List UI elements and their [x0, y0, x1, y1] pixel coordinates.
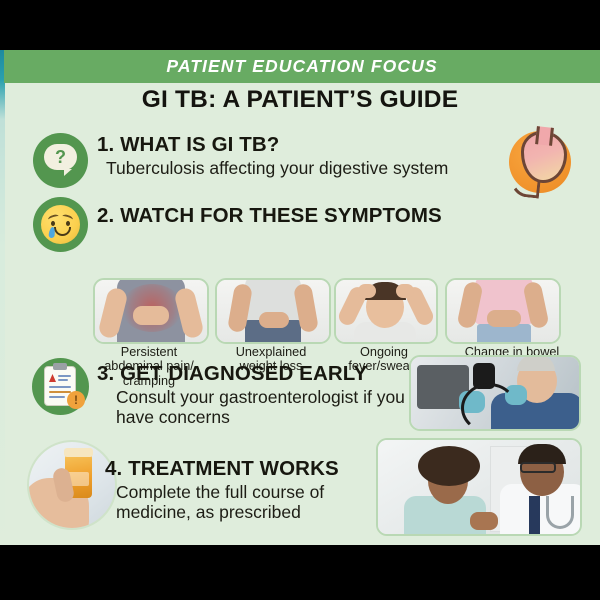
stomach-illustration — [503, 125, 575, 197]
text-line — [49, 386, 71, 388]
red-marker — [49, 374, 56, 382]
patient-hair — [418, 446, 480, 486]
alert-badge-icon: ! — [67, 391, 85, 409]
speech-bubble-shape: ? — [44, 144, 77, 170]
weight-loss-photo — [215, 278, 331, 344]
bowel-habits-photo-inner — [447, 280, 559, 342]
section-what-is-gi-tb: ? 1. WHAT IS GI TB? Tuberculosis affecti… — [0, 128, 600, 190]
jeans-shape — [477, 324, 531, 344]
section-get-diagnosed-early: ! 3. GET DIAGNOSED EARLY Consult your ga… — [0, 353, 600, 437]
fever-sweats-photo — [334, 278, 438, 344]
page-title: GI TB: A PATIENT’S GUIDE — [0, 86, 600, 114]
pill-bottle-photo — [27, 440, 117, 530]
letterbox-bottom — [0, 545, 600, 600]
esophagus-shape — [535, 126, 554, 146]
hands-on-abdomen — [487, 310, 521, 327]
section-1-heading: 1. WHAT IS GI TB? — [97, 133, 279, 157]
eye-right — [66, 221, 70, 226]
text-line — [49, 396, 65, 398]
question-speech-bubble-icon: ? — [33, 133, 88, 188]
endoscopy-photo-inner — [411, 357, 579, 429]
patient-hand — [470, 512, 498, 530]
clipboard-alert-icon: ! — [32, 358, 89, 415]
doctor-patient-consultation-photo — [376, 438, 582, 536]
hands-on-abdomen — [133, 306, 169, 325]
section-4-heading: 4. TREATMENT WORKS — [105, 457, 339, 481]
endoscope-tube — [461, 383, 517, 431]
crying-face-icon — [33, 197, 88, 252]
question-mark-glyph: ? — [44, 144, 77, 170]
text-line — [49, 391, 71, 393]
frown-mouth — [54, 227, 71, 236]
section-4-body: Complete the full course of medicine, as… — [116, 482, 376, 523]
tear-drop — [48, 227, 55, 239]
section-3-body: Consult your gastroenterologist if you h… — [116, 387, 408, 428]
fever-sweats-photo-inner — [336, 280, 436, 342]
banner-patient-education-focus: PATIENT EDUCATION FOCUS — [4, 50, 600, 83]
infographic-card: PATIENT EDUCATION FOCUS GI TB: A PATIENT… — [0, 50, 600, 545]
text-line — [58, 379, 68, 381]
letterbox-top — [0, 0, 600, 50]
crying-face-shape — [41, 205, 80, 244]
banner-label: PATIENT EDUCATION FOCUS — [166, 56, 437, 77]
section-treatment-works: 4. TREATMENT WORKS Complete the full cou… — [0, 438, 600, 538]
weight-loss-photo-inner — [217, 280, 329, 342]
abdominal-pain-photo-inner — [95, 280, 207, 342]
clipboard-clip — [53, 363, 67, 370]
text-line — [58, 375, 71, 377]
abdominal-pain-photo — [93, 278, 209, 344]
section-1-body: Tuberculosis affecting your digestive sy… — [106, 158, 486, 178]
endoscopy-procedure-photo — [409, 355, 581, 431]
hand-on-head-right — [396, 284, 414, 298]
bowel-habits-photo — [445, 278, 561, 344]
eyeglasses-icon — [520, 462, 556, 473]
stethoscope-icon — [546, 496, 574, 529]
bottle-cap — [64, 448, 93, 457]
eye-left — [51, 221, 55, 226]
hands-on-abdomen — [259, 312, 289, 328]
infographic-canvas: PATIENT EDUCATION FOCUS GI TB: A PATIENT… — [0, 0, 600, 600]
section-3-heading: 3. GET DIAGNOSED EARLY — [97, 362, 367, 386]
necktie — [529, 496, 540, 534]
section-2-heading: 2. WATCH FOR THESE SYMPTOMS — [97, 204, 442, 228]
consultation-photo-inner — [378, 440, 580, 534]
hand-on-head-left — [358, 284, 376, 298]
